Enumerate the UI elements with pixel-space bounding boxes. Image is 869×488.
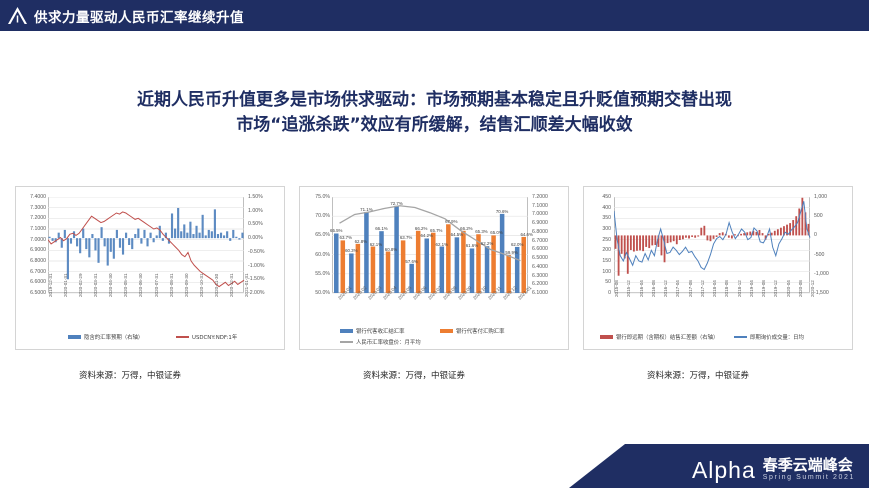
- axis-tick-label: 7.1000: [532, 203, 562, 209]
- axis-tick-label: 1,000: [814, 194, 846, 200]
- axis-tick-label: 6.2000: [532, 281, 562, 287]
- chart-1-source: 资料来源：万得，中银证券: [79, 369, 181, 381]
- legend-swatch-icon: [176, 336, 189, 338]
- x-axis-tick-label: 2021-01-31: [244, 274, 249, 298]
- axis-tick-label: 1.00%: [248, 208, 278, 214]
- legend-label: 人民币汇率收盘价：月平均: [356, 338, 421, 346]
- x-axis-tick-label: 2017-12: [700, 280, 705, 297]
- triangle-a-logo-icon: [0, 0, 34, 31]
- x-axis-tick-label: 2018-04: [712, 280, 717, 297]
- axis-tick-label: 6.6000: [20, 279, 46, 285]
- bar-value-label: 62.1%: [436, 242, 448, 247]
- bar-value-label: 66.2%: [415, 226, 427, 231]
- axis-tick-label: 500: [814, 213, 846, 219]
- x-axis-tick-label: 2020-07-31: [154, 274, 159, 298]
- axis-tick-label: 0: [814, 232, 846, 238]
- legend-swatch-icon: [340, 329, 353, 333]
- axis-tick-label: 50: [586, 279, 611, 285]
- legend-label: 银行代客收汇结汇率: [356, 327, 405, 335]
- bar-value-label: 66.2%: [460, 226, 472, 231]
- x-axis-tick-label: 2016-12: [663, 280, 668, 297]
- axis-tick-label: 400: [586, 205, 611, 211]
- bar-value-label: 65.0%: [490, 230, 502, 235]
- x-axis-tick-label: 2020-08-31: [169, 274, 174, 298]
- chart-1-legend-item-2: USDCNY:NDF:1年: [176, 333, 237, 341]
- axis-tick-label: 7.3000: [20, 205, 46, 211]
- x-axis-tick-label: 2020-11-30: [214, 274, 219, 297]
- chart-panel-3: 050100150200250300350400450 -1,500-1,000…: [583, 186, 853, 350]
- x-axis-tick-label: 2019-08: [761, 280, 766, 297]
- header-bar: 供求力量驱动人民币汇率继续升值: [0, 0, 869, 31]
- axis-tick-label: 7.2000: [532, 194, 562, 200]
- x-axis-tick-label: 2020-02-29: [78, 274, 83, 298]
- x-axis-tick-label: 2020-04: [786, 280, 791, 297]
- axis-tick-label: 55.0%: [304, 271, 330, 277]
- headline-line-2: 市场“追涨杀跌”效应有所缓解，结售汇顺差大幅收敛: [0, 113, 869, 138]
- legend-label: USDCNY:NDF:1年: [192, 333, 237, 341]
- bar-value-label: 65.3%: [475, 229, 487, 234]
- bar-value-label: 65.5%: [330, 228, 342, 233]
- axis-tick-label: -500: [814, 252, 846, 258]
- axis-tick-label: 100: [586, 269, 611, 275]
- legend-label: 银行代客付汇购汇率: [456, 327, 505, 335]
- axis-tick-label: 6.3000: [532, 273, 562, 279]
- axis-tick-label: 50.0%: [304, 290, 330, 296]
- axis-tick-label: 300: [586, 226, 611, 232]
- axis-tick-label: -1.00%: [248, 263, 278, 269]
- bar-value-label: 60.3%: [345, 248, 357, 253]
- bar-value-label: 72.7%: [390, 201, 402, 206]
- axis-tick-label: 250: [586, 237, 611, 243]
- x-axis-tick-label: 2018-08: [724, 280, 729, 297]
- x-axis-tick-label: 2020-03-31: [93, 274, 98, 298]
- x-axis-tick-label: 2015-12: [626, 280, 631, 297]
- x-axis-tick-label: 2020-09-30: [184, 274, 189, 298]
- chart-panel-1: 6.50006.60006.70006.80006.90007.00007.10…: [15, 186, 285, 350]
- axis-tick-label: -1.50%: [248, 276, 278, 282]
- x-axis-tick-label: 2020-04-30: [108, 274, 113, 298]
- chart-1-legend-item-1: 隐含的汇率预期（右轴）: [68, 333, 143, 341]
- axis-tick-label: 6.5000: [532, 255, 562, 261]
- axis-tick-label: 7.0000: [20, 237, 46, 243]
- bar-value-label: 71.1%: [360, 207, 372, 212]
- x-axis-tick-label: 2016-04: [639, 280, 644, 297]
- x-axis-tick-label: 2019-04: [749, 280, 754, 297]
- legend-swatch-icon: [68, 335, 81, 339]
- bar-value-label: 70.6%: [496, 209, 508, 214]
- x-axis-tick-label: 2017-08: [688, 280, 693, 297]
- bar-value-label: 64.5%: [451, 232, 463, 237]
- summit-title-cn: 春季云端峰会: [763, 457, 853, 473]
- x-axis-tick-label: 2020-01-31: [63, 274, 68, 298]
- chart-3-source: 资料来源：万得，中银证券: [647, 369, 749, 381]
- x-axis-tick-label: 2019-12: [773, 280, 778, 297]
- x-axis-tick-label: 2018-12: [737, 280, 742, 297]
- bar-value-label: 62.1%: [370, 242, 382, 247]
- axis-tick-label: -1,000: [814, 271, 846, 277]
- axis-tick-label: 1.50%: [248, 194, 278, 200]
- axis-tick-label: 7.0000: [532, 211, 562, 217]
- x-axis-tick-label: 2015-08: [614, 280, 619, 297]
- legend-label: 即期询价成交量：日均: [750, 333, 804, 341]
- axis-tick-label: 7.1000: [20, 226, 46, 232]
- axis-tick-label: 6.7000: [532, 238, 562, 244]
- axis-tick-label: 6.4000: [532, 264, 562, 270]
- x-axis-tick-label: 2020-12: [810, 280, 815, 297]
- axis-tick-label: 7.4000: [20, 194, 46, 200]
- axis-tick-label: 7.2000: [20, 215, 46, 221]
- axis-tick-label: 150: [586, 258, 611, 264]
- bar-value-label: 63.7%: [340, 235, 352, 240]
- page-title: 供求力量驱动人民币汇率继续升值: [34, 6, 244, 26]
- axis-tick-label: -0.50%: [248, 249, 278, 255]
- chart-panel-2: 50.0%55.0%60.0%65.0%70.0%75.0% 6.10006.2…: [299, 186, 569, 350]
- bar-value-label: 62.8%: [355, 239, 367, 244]
- chart-2-legend-item-1: 银行代客收汇结汇率: [340, 327, 405, 335]
- legend-swatch-icon: [600, 335, 613, 339]
- bar-value-label: 62.2%: [481, 241, 493, 246]
- legend-label: 银行即远期（含期权）结售汇差额（右轴）: [616, 333, 718, 341]
- axis-tick-label: 0.00%: [248, 235, 278, 241]
- footer-branding: Alpha 春季云端峰会 Spring Summit 2021: [692, 457, 855, 482]
- x-axis-tick-label: 2020-08: [798, 280, 803, 297]
- chart-2-source: 资料来源：万得，中银证券: [363, 369, 465, 381]
- bar-value-label: 65.7%: [430, 228, 442, 233]
- bar-value-label: 64.2%: [420, 233, 432, 238]
- axis-tick-label: -1,500: [814, 290, 846, 296]
- chart-2-legend-item-3: 人民币汇率收盘价：月平均: [340, 338, 421, 346]
- axis-tick-label: 0: [586, 290, 611, 296]
- x-axis-tick-label: 2020-06-30: [138, 274, 143, 298]
- summit-title-en: Spring Summit 2021: [763, 473, 855, 482]
- bar-value-label: 62.0%: [511, 242, 523, 247]
- axis-tick-label: 6.5000: [20, 290, 46, 296]
- legend-swatch-icon: [440, 329, 453, 333]
- axis-tick-label: 6.8000: [532, 229, 562, 235]
- x-axis-tick-label: 2020-05-31: [123, 274, 128, 298]
- bar-value-label: 60.8%: [385, 247, 397, 252]
- x-axis-tick-label: 2019-12-31: [48, 274, 53, 298]
- legend-label: 隐含的汇率预期（右轴）: [84, 333, 143, 341]
- x-axis-tick-label: 2017-04: [675, 280, 680, 297]
- bar-value-label: 57.6%: [405, 259, 417, 264]
- axis-tick-label: 6.9000: [20, 247, 46, 253]
- axis-tick-label: 350: [586, 215, 611, 221]
- axis-tick-label: 6.6000: [532, 246, 562, 252]
- axis-tick-label: 70.0%: [304, 213, 330, 219]
- slide-headline: 近期人民币升值更多是市场供求驱动：市场预期基本稳定且升贬值预期交替出现 市场“追…: [0, 88, 869, 138]
- x-axis-tick-label: 2020-12-31: [229, 274, 234, 298]
- bar-value-label: 59.9%: [505, 250, 517, 255]
- chart-2-legend-item-2: 银行代客付汇购汇率: [440, 327, 505, 335]
- legend-swatch-icon: [734, 336, 747, 338]
- legend-swatch-icon: [340, 341, 353, 343]
- axis-tick-label: 75.0%: [304, 194, 330, 200]
- headline-line-1: 近期人民币升值更多是市场供求驱动：市场预期基本稳定且升贬值预期交替出现: [0, 88, 869, 113]
- bar-value-label: 63.7%: [400, 235, 412, 240]
- axis-tick-label: -2.00%: [248, 290, 278, 296]
- bar-value-label: 64.6%: [520, 232, 532, 237]
- axis-tick-label: 6.7000: [20, 269, 46, 275]
- bar-value-label: 67.9%: [445, 219, 457, 224]
- axis-tick-label: 6.9000: [532, 220, 562, 226]
- bar-value-label: 61.6%: [466, 243, 478, 248]
- chart-3-legend-item-1: 银行即远期（含期权）结售汇差额（右轴）: [600, 333, 718, 341]
- axis-tick-label: 200: [586, 247, 611, 253]
- axis-tick-label: 60.0%: [304, 252, 330, 258]
- axis-tick-label: 6.1000: [532, 290, 562, 296]
- alpha-wordmark: Alpha: [692, 459, 756, 482]
- footer: Alpha 春季云端峰会 Spring Summit 2021: [0, 444, 869, 488]
- x-axis-tick-label: 2016-08: [651, 280, 656, 297]
- axis-tick-label: 6.8000: [20, 258, 46, 264]
- axis-tick-label: 450: [586, 194, 611, 200]
- x-axis-tick-label: 2020-10-31: [199, 274, 204, 298]
- bar-value-label: 66.1%: [375, 226, 387, 231]
- axis-tick-label: 0.50%: [248, 221, 278, 227]
- chart-3-legend-item-2: 即期询价成交量：日均: [734, 333, 804, 341]
- axis-tick-label: 65.0%: [304, 232, 330, 238]
